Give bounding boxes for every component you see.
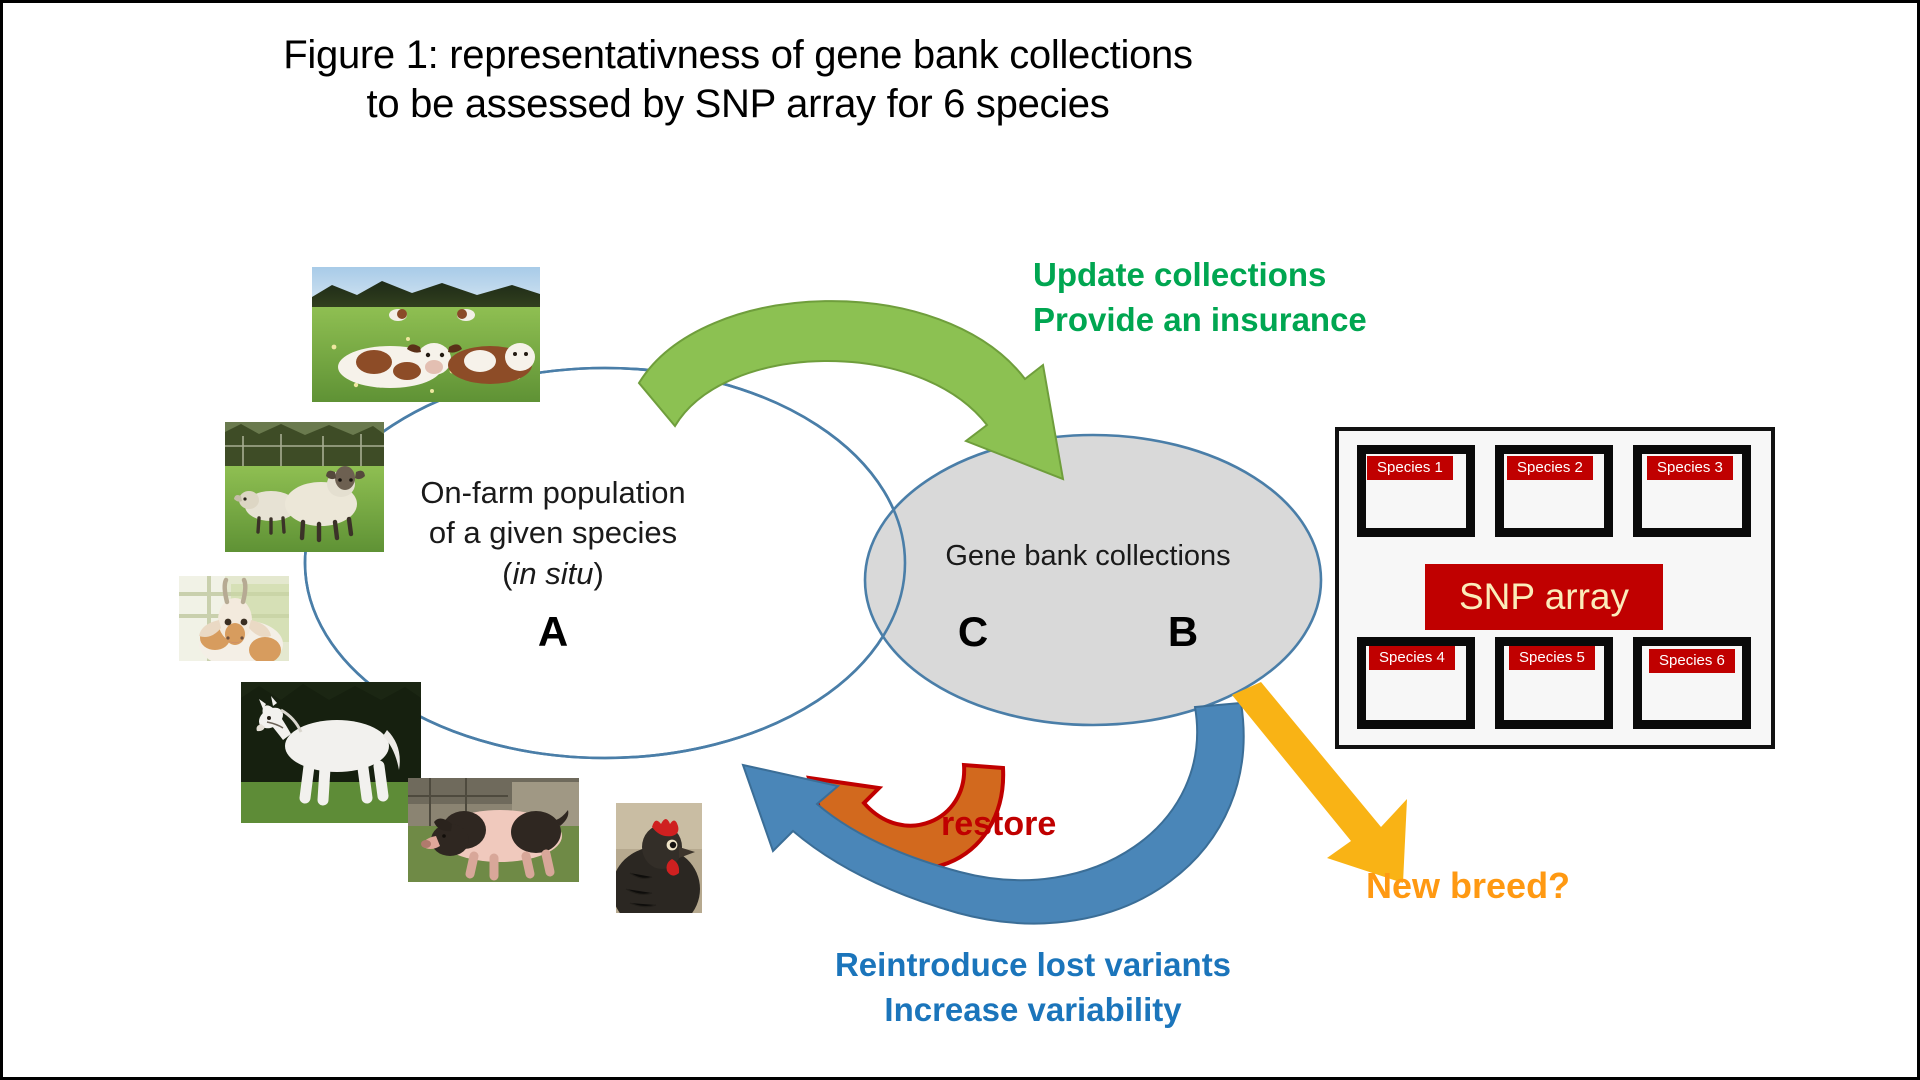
chicken-photo [616,803,702,913]
gene-bank-collections-label: Gene bank collections [878,540,1298,573]
snp-array-panel: Species 1 Species 2 Species 3 Species 4 … [1335,427,1775,749]
reintroduce-variants-label: Reintroduce lost variants Increase varia… [783,943,1283,1033]
reintroduce-line-2: Increase variability [783,988,1283,1033]
figure-slide: Figure 1: representativness of gene bank… [0,0,1920,1080]
snp-tag-species-4: Species 4 [1369,646,1455,670]
update-collections-label: Update collections Provide an insurance [1033,253,1367,343]
horse-photo [241,682,421,823]
snp-tag-species-5: Species 5 [1509,646,1595,670]
update-collections-line-1: Update collections [1033,253,1367,298]
on-farm-line-2: of a given species [363,513,743,553]
restore-label: restore [941,805,1056,844]
in-situ-italic: in situ [513,556,594,591]
snp-tag-species-1: Species 1 [1367,456,1453,480]
ellipse-letter-a: A [363,608,743,656]
on-farm-line-3: (in situ) [363,554,743,594]
snp-array-title: SNP array [1425,564,1663,630]
ellipse-letter-c: C [933,608,1013,656]
snp-tag-species-6: Species 6 [1649,649,1735,673]
update-collections-line-2: Provide an insurance [1033,298,1367,343]
in-situ-open-paren: ( [502,556,512,591]
snp-tag-species-3: Species 3 [1647,456,1733,480]
gene-bank-collections-ellipse [865,435,1321,725]
pig-photo [408,778,579,882]
in-situ-close-paren: ) [593,556,603,591]
sheep-photo [225,422,384,552]
on-farm-population-label: On-farm population of a given species (i… [363,473,743,594]
snp-tag-species-2: Species 2 [1507,456,1593,480]
goat-photo [179,576,289,661]
reintroduce-line-1: Reintroduce lost variants [783,943,1283,988]
cattle-photo [312,267,540,402]
new-breed-label: New breed? [1366,865,1570,907]
ellipse-letter-b: B [1143,608,1223,656]
on-farm-line-1: On-farm population [363,473,743,513]
